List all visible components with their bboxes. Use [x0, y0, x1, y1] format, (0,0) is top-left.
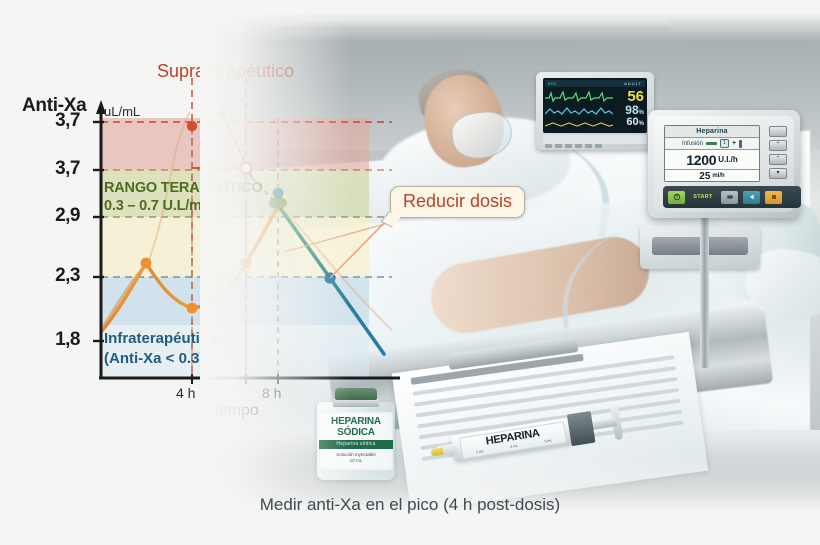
y-tick-2: 2,9	[20, 205, 80, 227]
y-tick-1: 3,7	[20, 158, 80, 180]
data-point-orange-1	[141, 258, 152, 269]
syringe-label: HEPARINA 1 mL 2 mL 5 mL	[459, 421, 567, 459]
syringe-tick-2: 2 mL	[510, 444, 518, 449]
x-tick-4h: 4 h	[176, 385, 195, 401]
y-tick-0: 3,7	[20, 110, 80, 132]
data-point-orange-trough	[187, 303, 198, 314]
syringe-tick-3: 5 mL	[544, 438, 552, 443]
data-point-supra-peak	[187, 121, 197, 131]
syringe-plunger	[567, 411, 596, 446]
y-axis-unit: uL/mL	[104, 104, 140, 119]
photo-fade-top	[0, 0, 820, 42]
band-label-therapeutic-values: 0.3 – 0.7 U.L/ml	[104, 198, 206, 214]
y-tick-3: 2,3	[20, 265, 80, 287]
syringe-tick-1: 1 mL	[476, 449, 484, 454]
figure-caption: Medir anti-Xa en el pico (4 h post-dosis…	[0, 495, 820, 515]
band-label-infratherapeutic-values: (Anti-Xa < 0.3)	[104, 350, 204, 367]
infographic-stage: ECG ADULT 56 98% 60% Heparina I	[0, 0, 820, 545]
y-tick-4: 1,8	[20, 329, 80, 351]
reduce-dose-callout: Reducir dosis	[390, 186, 525, 218]
